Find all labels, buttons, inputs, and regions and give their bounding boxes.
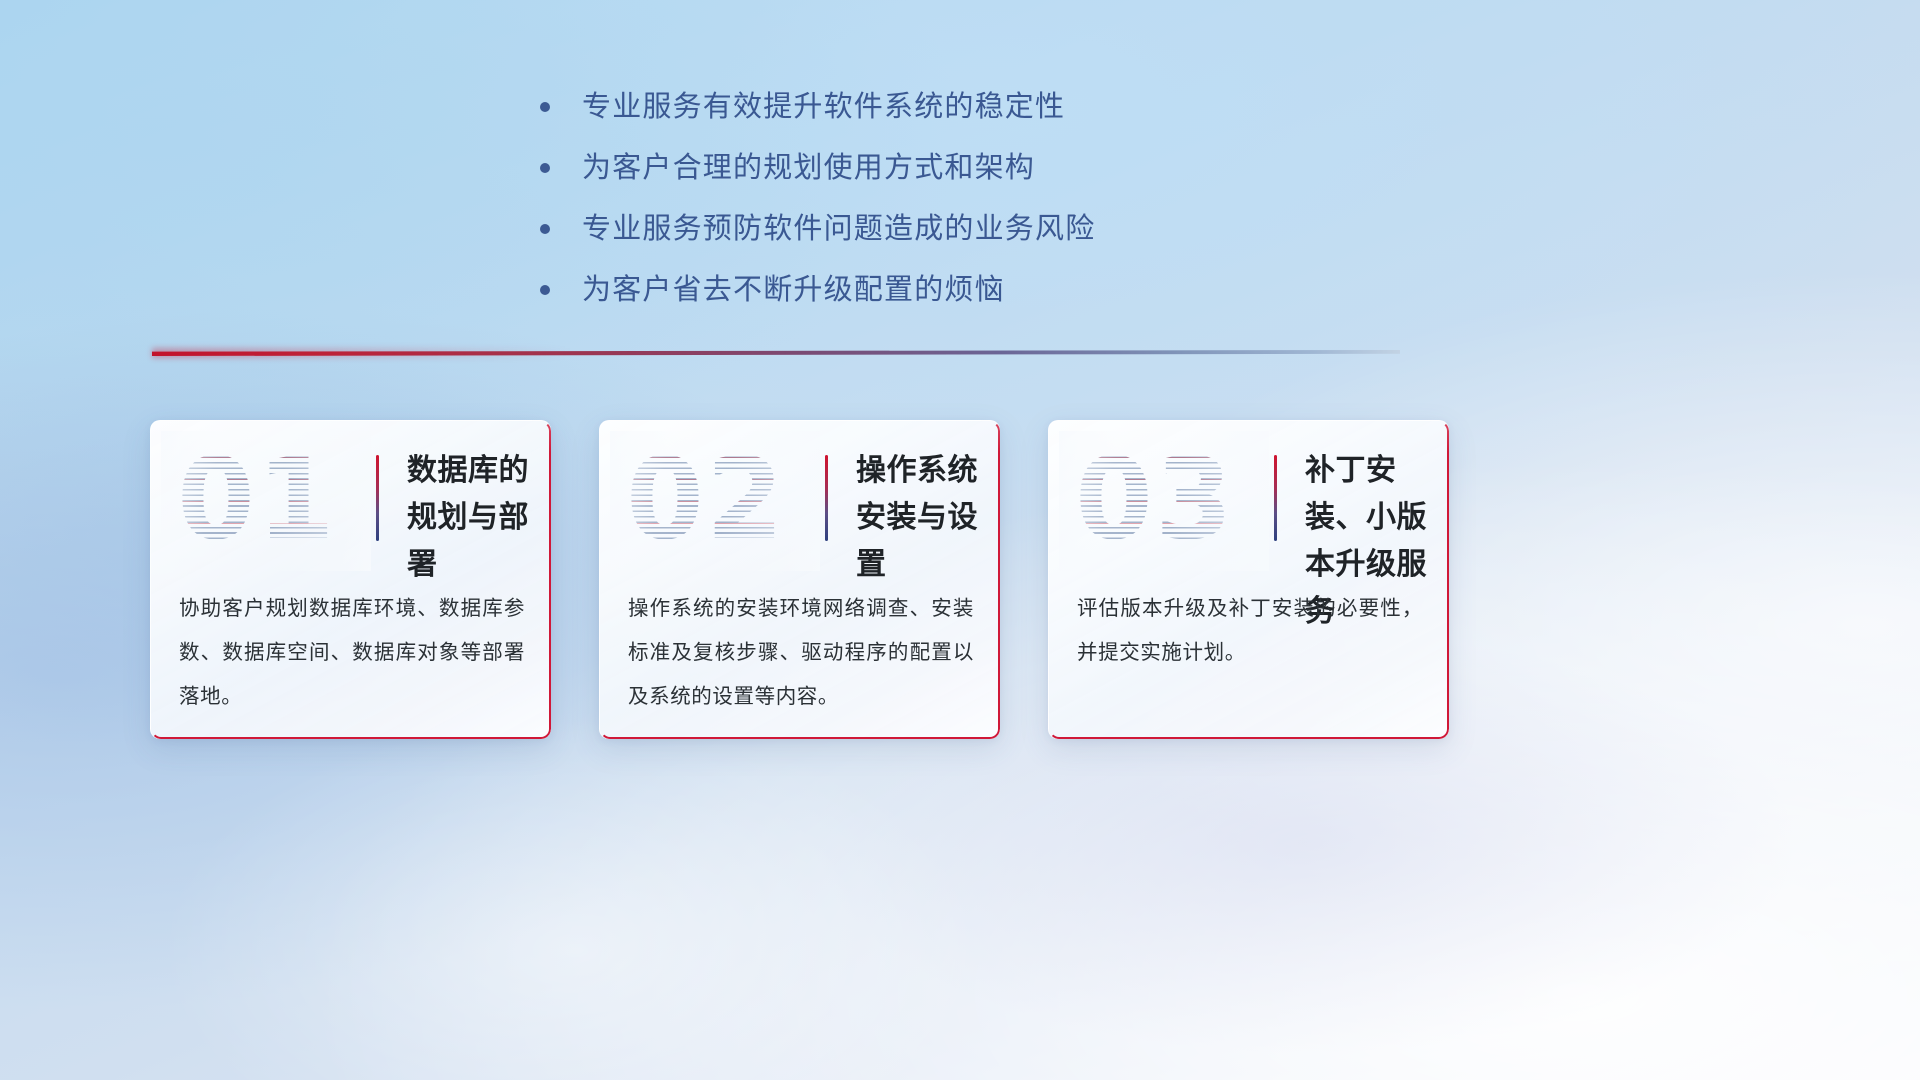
- card-divider-bar: [376, 455, 379, 541]
- card-description: 评估版本升级及补丁安装的必要性，并提交实施计划。: [1077, 587, 1423, 675]
- service-card[interactable]: 02 02 操作系统安装与设置 操作系统的安装环境网络调查、安装标准及复核步骤、…: [599, 420, 1000, 739]
- card-title: 数据库的规划与部署: [407, 447, 539, 588]
- card-number-watermark: 03: [1075, 435, 1235, 565]
- card-title: 操作系统安装与设置: [856, 447, 988, 588]
- bullet-dot-icon: [540, 163, 550, 173]
- bullet-item-label: 专业服务预防软件问题造成的业务风险: [582, 208, 1095, 250]
- card-description: 操作系统的安装环境网络调查、安装标准及复核步骤、驱动程序的配置以及系统的设置等内…: [628, 587, 974, 719]
- service-card-grid: 01 01 数据库的规划与部署 协助客户规划数据库环境、数据库参数、数据库空间、…: [150, 420, 1450, 739]
- bullet-dot-icon: [540, 224, 550, 234]
- list-item: 为客户合理的规划使用方式和架构: [540, 147, 1360, 189]
- section-divider: [152, 348, 1400, 360]
- list-item: 专业服务预防软件问题造成的业务风险: [540, 208, 1360, 250]
- bullet-dot-icon: [540, 285, 550, 295]
- card-description: 协助客户规划数据库环境、数据库参数、数据库空间、数据库对象等部署落地。: [179, 587, 525, 719]
- bullet-item-label: 为客户省去不断升级配置的烦恼: [582, 269, 1005, 311]
- card-header: 03 03 补丁安装、小版本升级服务: [1049, 421, 1449, 579]
- card-number-watermark: 02: [626, 435, 786, 565]
- slide-canvas: 专业服务有效提升软件系统的稳定性 为客户合理的规划使用方式和架构 专业服务预防软…: [0, 0, 1920, 1080]
- list-item: 为客户省去不断升级配置的烦恼: [540, 269, 1360, 311]
- list-item: 专业服务有效提升软件系统的稳定性: [540, 86, 1360, 128]
- benefits-bullet-list: 专业服务有效提升软件系统的稳定性 为客户合理的规划使用方式和架构 专业服务预防软…: [540, 86, 1360, 330]
- bullet-item-label: 为客户合理的规划使用方式和架构: [582, 147, 1035, 189]
- service-card[interactable]: 03 03 补丁安装、小版本升级服务 评估版本升级及补丁安装的必要性，并提交实施…: [1048, 420, 1449, 739]
- card-header: 02 02 操作系统安装与设置: [600, 421, 1000, 579]
- card-number-watermark: 01: [177, 435, 337, 565]
- bullet-item-label: 专业服务有效提升软件系统的稳定性: [582, 86, 1065, 128]
- card-divider-bar: [1274, 455, 1277, 541]
- card-header: 01 01 数据库的规划与部署: [151, 421, 551, 579]
- card-divider-bar: [825, 455, 828, 541]
- bullet-dot-icon: [540, 102, 550, 112]
- service-card[interactable]: 01 01 数据库的规划与部署 协助客户规划数据库环境、数据库参数、数据库空间、…: [150, 420, 551, 739]
